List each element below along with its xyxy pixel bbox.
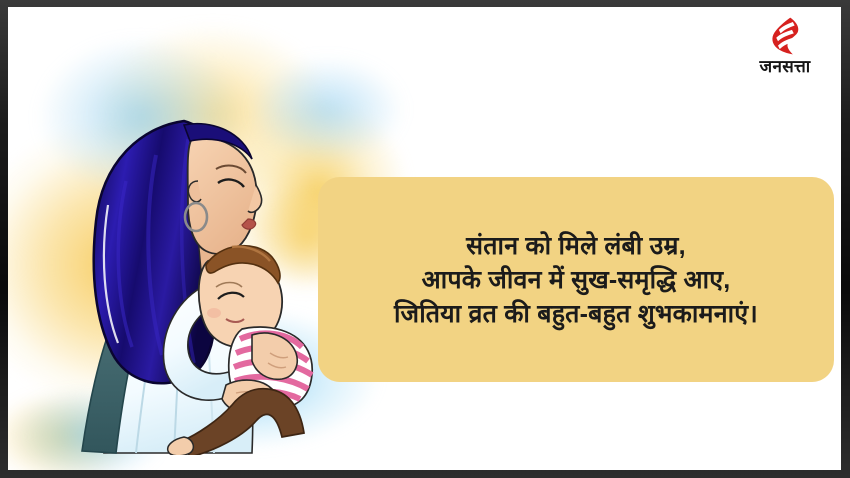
greeting-card-canvas: संतान को मिले लंबी उम्र, आपके जीवन में स… [8, 7, 841, 470]
mother-holding-baby-illustration [56, 85, 336, 455]
greeting-line-1: संतान को मिले लंबी उम्र, [466, 229, 686, 263]
brand-logo: जनसत्ता [743, 15, 827, 85]
image-frame: संतान को मिले लंबी उम्र, आपके जीवन में स… [0, 0, 850, 478]
greeting-line-2: आपके जीवन में सुख-समृद्धि आए, [422, 263, 731, 297]
greeting-message-card: संतान को मिले लंबी उम्र, आपके जीवन में स… [318, 177, 834, 382]
brand-name: जनसत्ता [760, 58, 811, 75]
greeting-line-3: जितिया व्रत की बहुत-बहुत शुभकामनाएं। [394, 297, 758, 331]
jansatta-flame-logo-icon [764, 15, 806, 57]
